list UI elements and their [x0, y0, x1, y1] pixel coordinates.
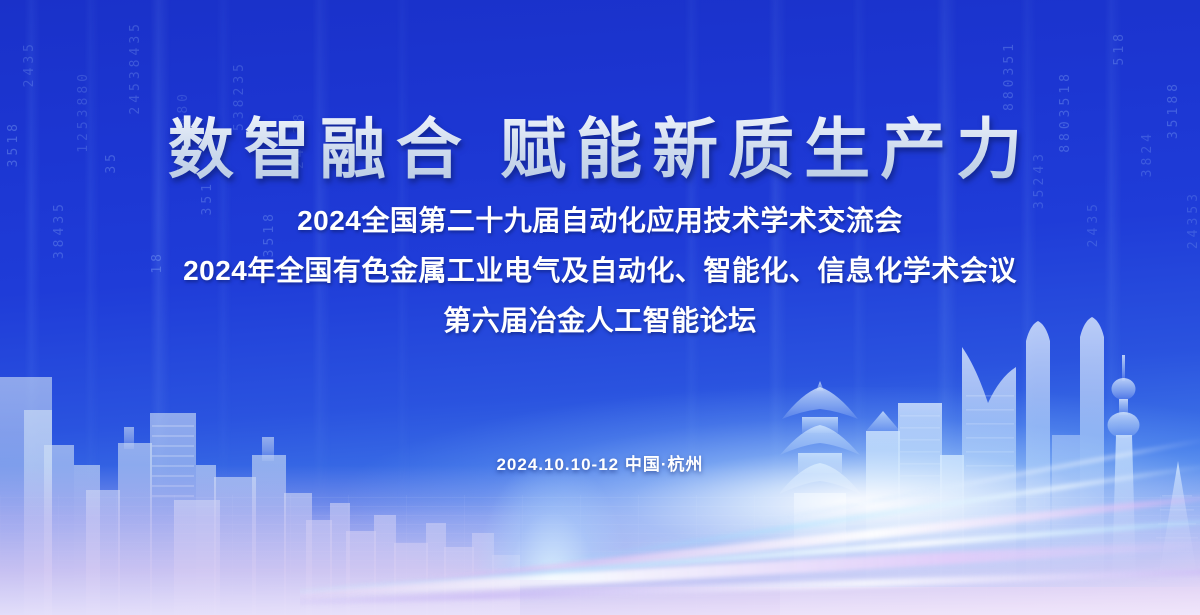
conference-banner: 3518243538435125388035245384351824358803… — [0, 0, 1200, 615]
subtitle-line-2: 2024年全国有色金属工业电气及自动化、智能化、信息化学术会议 — [0, 249, 1200, 289]
banner-text-block: 数智融合 赋能新质生产力 2024全国第二十九届自动化应用技术学术交流会 202… — [0, 0, 1200, 339]
event-date-location: 2024.10.10-12 中国·杭州 — [0, 450, 1200, 475]
page-title: 数智融合 赋能新质生产力 — [0, 0, 1200, 185]
subtitle-line-1: 2024全国第二十九届自动化应用技术学术交流会 — [0, 199, 1200, 239]
light-streaks — [300, 335, 1200, 615]
subtitle-line-3: 第六届冶金人工智能论坛 — [0, 299, 1200, 339]
